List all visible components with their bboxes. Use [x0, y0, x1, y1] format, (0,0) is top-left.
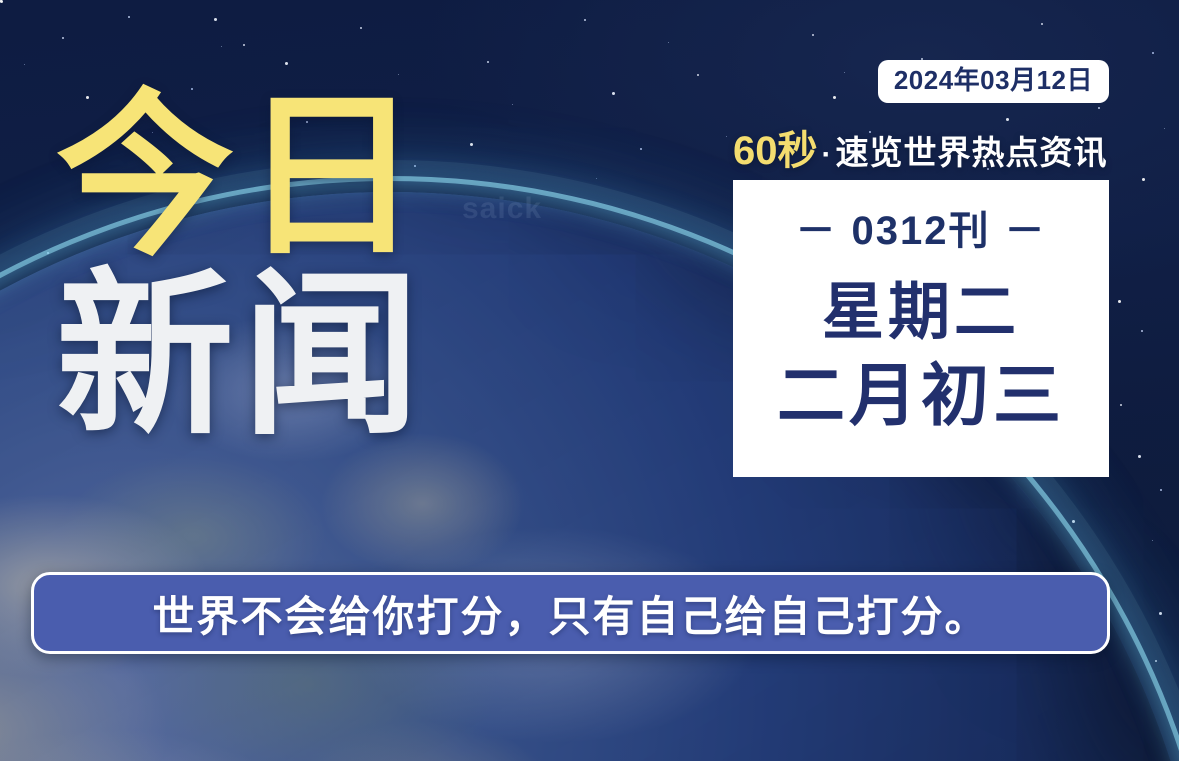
tagline-description: 速览世界热点资讯: [836, 134, 1108, 171]
issue-dash-right-icon: －: [990, 209, 1060, 253]
title-line-jinri: 今日: [56, 92, 476, 263]
issue-number: 0312刊: [852, 209, 991, 253]
quote-text: 世界不会给你打分，只有自己给自己打分。: [152, 583, 988, 644]
tagline-seconds: 60秒: [733, 129, 818, 173]
issue-dash-left-icon: －: [782, 209, 852, 253]
issue-line: －0312刊－: [733, 198, 1109, 256]
tagline: 60秒·速览世界热点资讯: [733, 103, 1109, 171]
quote-banner: 世界不会给你打分，只有自己给自己打分。: [31, 572, 1110, 654]
lunar-date-label: 二月初三: [733, 361, 1109, 432]
date-info-card: －0312刊－ 星期二 二月初三: [733, 180, 1109, 477]
tagline-separator-icon: ·: [818, 138, 836, 171]
date-badge: 2024年03月12日: [878, 60, 1109, 103]
weekday-label: 星期二: [733, 280, 1109, 345]
right-column: 2024年03月12日 60秒·速览世界热点资讯 －0312刊－ 星期二 二月初…: [733, 60, 1109, 477]
news-poster: saick 今日 新闻 2024年03月12日 60秒·速览世界热点资讯 －03…: [0, 0, 1179, 761]
title-line-xinwen: 新闻: [56, 271, 476, 442]
poster-title: 今日 新闻: [56, 92, 476, 442]
